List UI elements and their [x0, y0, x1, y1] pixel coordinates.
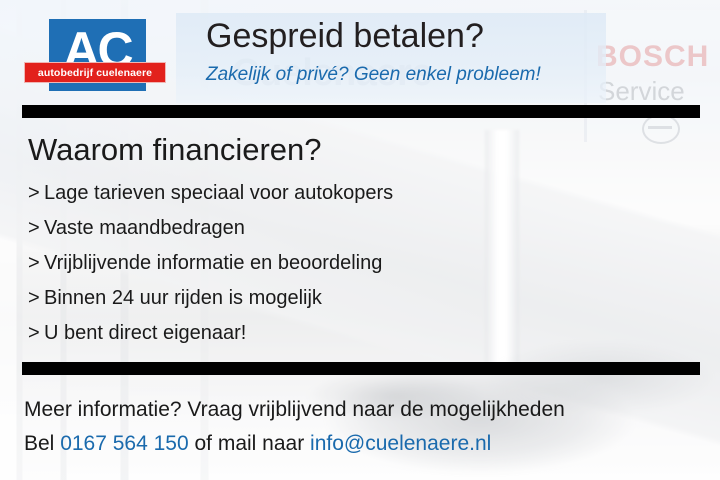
list-item-label: Lage tarieven speciaal voor autokopers [44, 182, 393, 204]
bullet-marker-icon: > [28, 316, 44, 351]
promo-banner: BOSCH Service Cuelenaere AC autobedrijf … [0, 0, 720, 480]
subheadline: Zakelijk of privé? Geen enkel probleem! [206, 64, 541, 86]
bosch-emblem-icon [642, 114, 680, 144]
list-item: >Vaste maandbedragen [28, 211, 393, 246]
list-item: >Binnen 24 uur rijden is mogelijk [28, 281, 393, 316]
benefits-list: >Lage tarieven speciaal voor autokopers … [28, 176, 393, 351]
email-link[interactable]: info@cuelenaere.nl [310, 432, 491, 455]
footer-contact-line: Bel 0167 564 150 of mail naar info@cuele… [24, 432, 491, 456]
list-item: >U bent direct eigenaar! [28, 316, 393, 351]
phone-number-link[interactable]: 0167 564 150 [60, 432, 188, 455]
bosch-service-label: Service [598, 76, 685, 107]
bullet-marker-icon: > [28, 281, 44, 316]
section-title: Waarom financieren? [28, 132, 322, 168]
headline: Gespreid betalen? [206, 17, 484, 56]
logo-tagline-text: autobedrijf cuelenaere [38, 67, 152, 79]
list-item: >Vrijblijvende informatie en beoordeling [28, 246, 393, 281]
divider-top [22, 105, 700, 118]
logo-tagline-banner: autobedrijf cuelenaere [24, 62, 166, 83]
list-item-label: Vaste maandbedragen [44, 217, 245, 239]
bullet-marker-icon: > [28, 211, 44, 246]
list-item-label: Vrijblijvende informatie en beoordeling [44, 252, 382, 274]
footer-mail-prefix: of mail naar [189, 432, 310, 455]
list-item: >Lage tarieven speciaal voor autokopers [28, 176, 393, 211]
footer-info-text: Meer informatie? Vraag vrijblijvend naar… [24, 398, 565, 422]
bullet-marker-icon: > [28, 176, 44, 211]
divider-bottom [22, 362, 700, 375]
bosch-wordmark: BOSCH [596, 40, 709, 74]
bullet-marker-icon: > [28, 246, 44, 281]
list-item-label: U bent direct eigenaar! [44, 322, 246, 344]
list-item-label: Binnen 24 uur rijden is mogelijk [44, 287, 322, 309]
footer-call-prefix: Bel [24, 432, 60, 455]
